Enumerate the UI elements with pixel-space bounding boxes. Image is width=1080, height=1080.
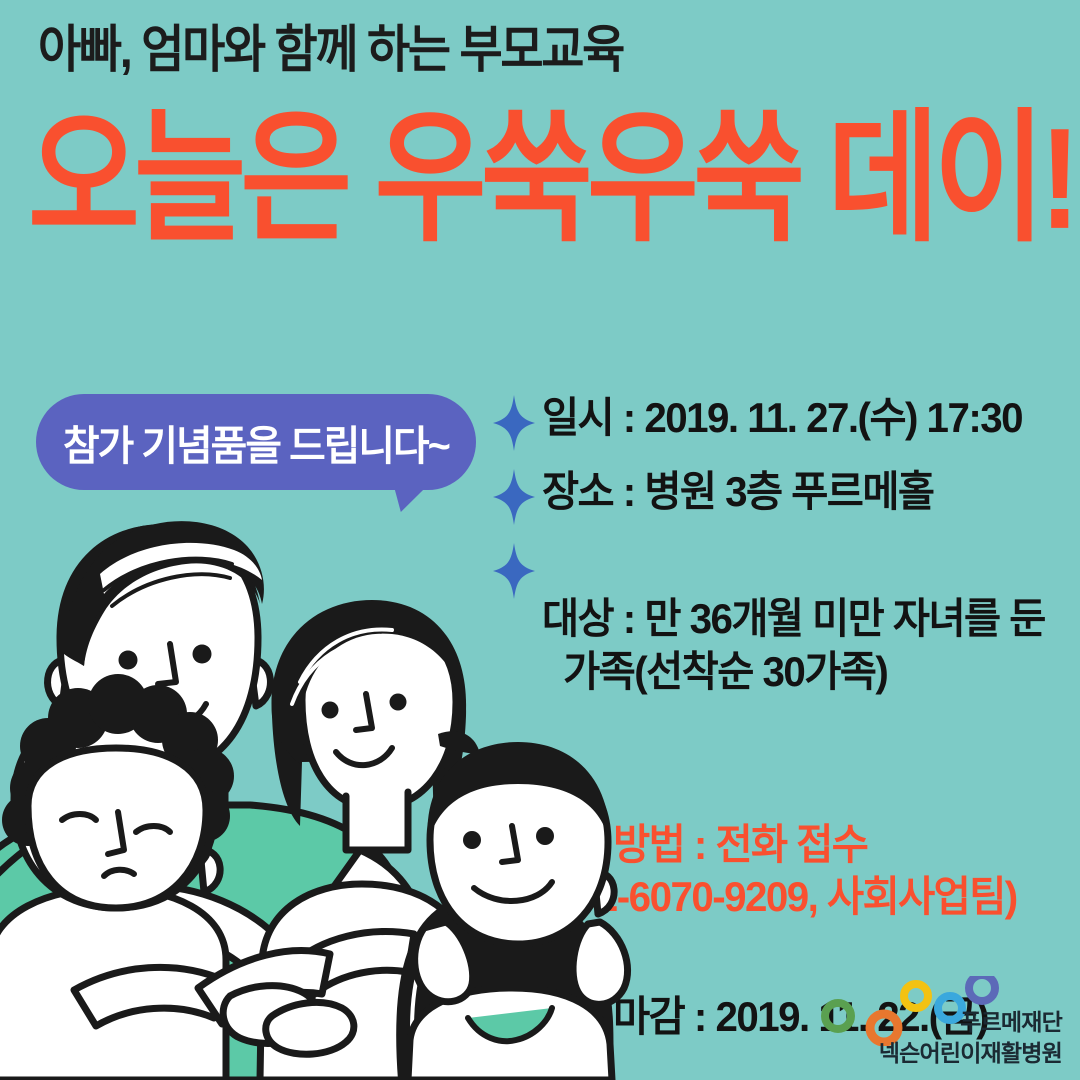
organization-logo: 푸르메재단 넥슨어린이재활병원 bbox=[816, 976, 1066, 1072]
speech-bubble-body: 참가 기념품을 드립니다~ bbox=[36, 394, 476, 490]
event-info-list: 일시 : 2019. 11. 27.(수) 17:30 장소 : 병원 3층 푸… bbox=[492, 392, 1080, 1065]
four-point-star-icon bbox=[492, 768, 536, 826]
info-text-audience: 대상 : 만 36개월 미만 자녀를 둔 가족(선착순 30가족) bbox=[542, 540, 1045, 752]
four-point-star-icon bbox=[492, 993, 536, 1051]
poster-kicker: 아빠, 엄마와 함께 하는 부모교육 bbox=[38, 22, 623, 78]
four-point-star-icon bbox=[492, 394, 536, 452]
clasped-hands bbox=[223, 986, 354, 1055]
info-text-date: 일시 : 2019. 11. 27.(수) 17:30 bbox=[542, 392, 1022, 445]
figure-son bbox=[0, 674, 234, 1080]
info-text-apply-method: 신청방법 : 전화 접수 (02-6070-9209, 사회사업팀) bbox=[542, 766, 1017, 978]
logo-text-line1: 푸르메재단 bbox=[879, 1007, 1062, 1037]
info-row-date: 일시 : 2019. 11. 27.(수) 17:30 bbox=[492, 392, 1080, 452]
logo-text: 푸르메재단 넥슨어린이재활병원 bbox=[879, 1007, 1062, 1068]
figure-father bbox=[0, 521, 425, 1080]
four-point-star-icon bbox=[492, 468, 536, 526]
poster-headline: 오늘은 우쑥우쑥 데이! bbox=[28, 108, 1075, 251]
gift-speech-bubble: 참가 기념품을 드립니다~ bbox=[36, 394, 476, 490]
info-row-audience: 대상 : 만 36개월 미만 자녀를 둔 가족(선착순 30가족) bbox=[492, 540, 1080, 752]
info-text-place: 장소 : 병원 3층 푸르메홀 bbox=[542, 466, 933, 519]
four-point-star-icon bbox=[492, 542, 536, 600]
logo-text-line2: 넥슨어린이재활병원 bbox=[879, 1038, 1062, 1068]
figure-mother bbox=[198, 600, 480, 1080]
speech-bubble-text: 참가 기념품을 드립니다~ bbox=[63, 412, 449, 472]
info-text-apply-method-line1: 신청방법 : 전화 접수 bbox=[542, 821, 867, 868]
info-row-apply-method: 신청방법 : 전화 접수 (02-6070-9209, 사회사업팀) bbox=[492, 766, 1080, 978]
info-text-audience-line2: 가족(선착순 30가족) bbox=[542, 646, 1045, 699]
poster-canvas: 아빠, 엄마와 함께 하는 부모교육 오늘은 우쑥우쑥 데이! 참가 기념품을 … bbox=[0, 0, 1080, 1080]
info-text-apply-phone: (02-6070-9209, 사회사업팀) bbox=[542, 871, 1017, 924]
info-row-place: 장소 : 병원 3층 푸르메홀 bbox=[492, 466, 1080, 526]
info-text-audience-line1: 대상 : 만 36개월 미만 자녀를 둔 bbox=[542, 595, 1045, 642]
